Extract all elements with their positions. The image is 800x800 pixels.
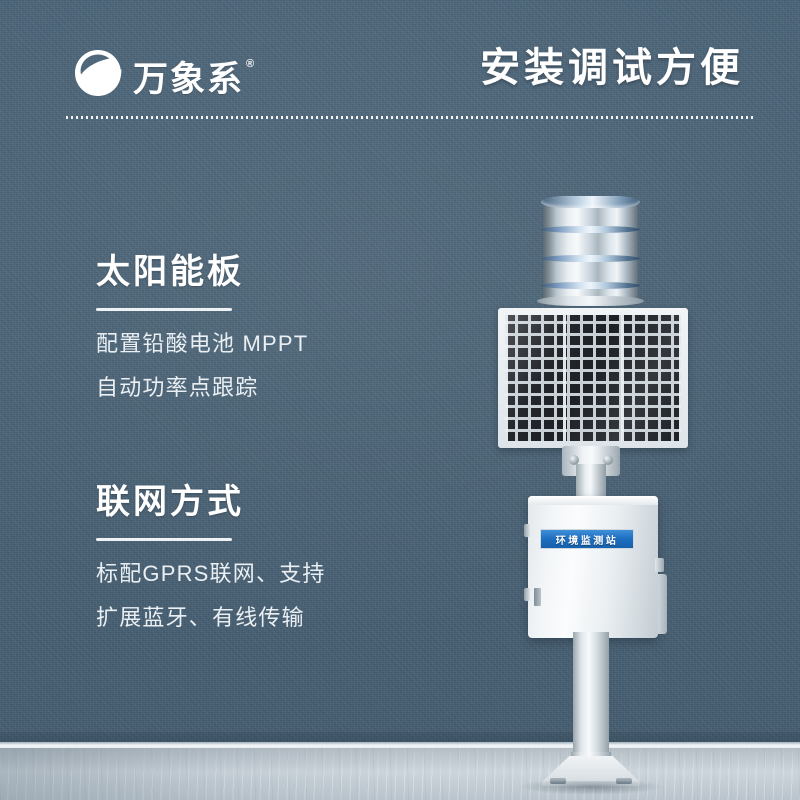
feature-line: 配置铅酸电池 MPPT — [96, 329, 308, 359]
solar-panel — [498, 308, 688, 448]
feature-heading: 太阳能板 — [96, 252, 308, 292]
feature-block-network: 联网方式 标配GPRS联网、支持 扩展蓝牙、有线传输 — [96, 482, 326, 632]
globe-swoosh-logo-icon — [72, 48, 124, 98]
feature-line: 标配GPRS联网、支持 — [96, 559, 326, 589]
page-title: 安装调试方便 — [480, 44, 744, 92]
feature-line: 扩展蓝牙、有线传输 — [96, 603, 326, 633]
feature-underline — [96, 308, 232, 311]
control-enclosure-box: 环境监测站 — [528, 496, 658, 638]
registered-trademark-icon: ® — [246, 59, 254, 70]
product-image: 环境监测站 — [470, 196, 760, 800]
enclosure-side-fin — [658, 574, 667, 634]
enclosure-vent — [534, 588, 541, 606]
enclosure-hinge — [524, 524, 530, 537]
feature-line: 自动功率点跟踪 — [96, 373, 308, 403]
support-mast — [573, 632, 609, 756]
header: 万象系 ® 安装调试方便 — [0, 0, 800, 120]
enclosure-lid — [528, 496, 658, 505]
feature-heading: 联网方式 — [96, 482, 326, 522]
feature-block-solar-panel: 太阳能板 配置铅酸电池 MPPT 自动功率点跟踪 — [96, 252, 308, 402]
brand-name: 万象系 — [133, 62, 244, 97]
radiation-shield-icon — [543, 196, 638, 306]
brand-logo: 万象系 ® — [72, 48, 254, 98]
product-feature-banner: 万象系 ® 安装调试方便 太阳能板 配置铅酸电池 MPPT 自动功率点跟踪 联网… — [0, 0, 800, 800]
feature-underline — [96, 538, 232, 541]
enclosure-latch — [655, 558, 664, 572]
enclosure-label: 环境监测站 — [540, 529, 634, 549]
header-divider — [66, 116, 756, 119]
device-contact-shadow — [518, 781, 664, 795]
enclosure-hinge — [524, 588, 530, 601]
